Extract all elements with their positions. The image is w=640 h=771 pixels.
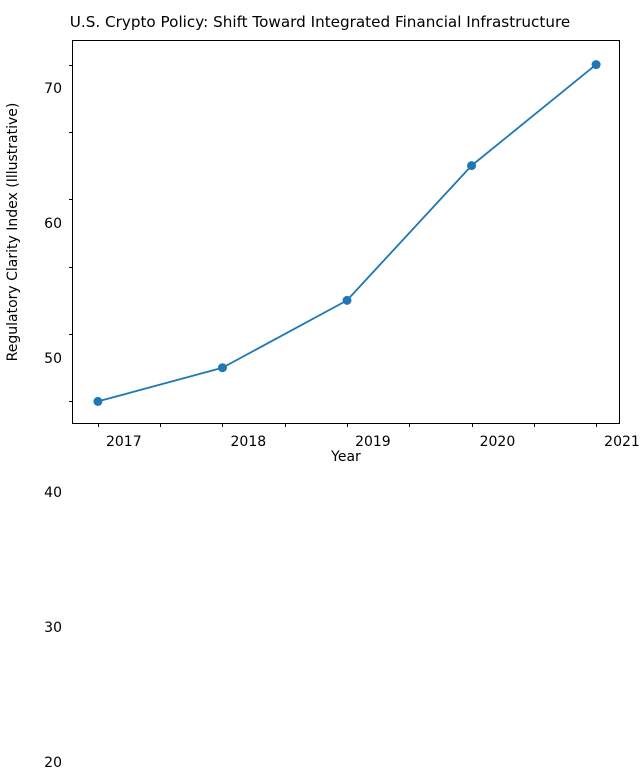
- y-tick-label: 60: [44, 217, 62, 231]
- y-tick-mark: 30: [69, 334, 73, 335]
- x-tick-mark: 2019: [222, 423, 223, 427]
- y-tick-label: 20: [44, 756, 62, 770]
- x-tick-label: 2021: [604, 435, 640, 449]
- data-point-marker: [467, 161, 476, 170]
- line-series-markers: [93, 60, 600, 406]
- x-tick-mark: 2024: [534, 423, 535, 427]
- x-tick-mark: 2018: [160, 423, 161, 427]
- plot-area: [73, 41, 619, 423]
- x-tick-label: 2019: [355, 435, 391, 449]
- data-point-marker: [93, 397, 102, 406]
- x-tick-mark: 2022: [409, 423, 410, 427]
- line-series-svg: [73, 41, 621, 425]
- x-tick-label: 2018: [231, 435, 267, 449]
- y-tick-label: 50: [44, 352, 62, 366]
- y-axis-label: Regulatory Clarity Index (Illustrative): [6, 103, 20, 362]
- y-tick-mark: 40: [69, 267, 73, 268]
- x-tick-mark: 2025: [596, 423, 597, 427]
- line-series-path: [98, 65, 596, 402]
- data-point-marker: [592, 60, 601, 69]
- data-point-marker: [218, 363, 227, 372]
- plot-axes: 203040506070 201720182019202020212022202…: [72, 40, 620, 424]
- chart-title: U.S. Crypto Policy: Shift Toward Integra…: [0, 13, 640, 31]
- x-tick-mark: 2020: [285, 423, 286, 427]
- data-point-marker: [343, 296, 352, 305]
- y-tick-mark: 70: [69, 65, 73, 66]
- y-tick-mark: 20: [69, 401, 73, 402]
- x-tick-mark: 2017: [98, 423, 99, 427]
- y-tick-label: 40: [44, 486, 62, 500]
- y-tick-label: 30: [44, 621, 62, 635]
- x-tick-label: 2020: [480, 435, 516, 449]
- y-tick-mark: 50: [69, 199, 73, 200]
- x-tick-mark: 2021: [347, 423, 348, 427]
- figure-canvas: U.S. Crypto Policy: Shift Toward Integra…: [0, 0, 640, 480]
- y-tick-label: 70: [44, 82, 62, 96]
- x-tick-mark: 2023: [472, 423, 473, 427]
- y-tick-mark: 60: [69, 132, 73, 133]
- x-axis-label: Year: [72, 450, 620, 464]
- x-tick-label: 2017: [106, 435, 142, 449]
